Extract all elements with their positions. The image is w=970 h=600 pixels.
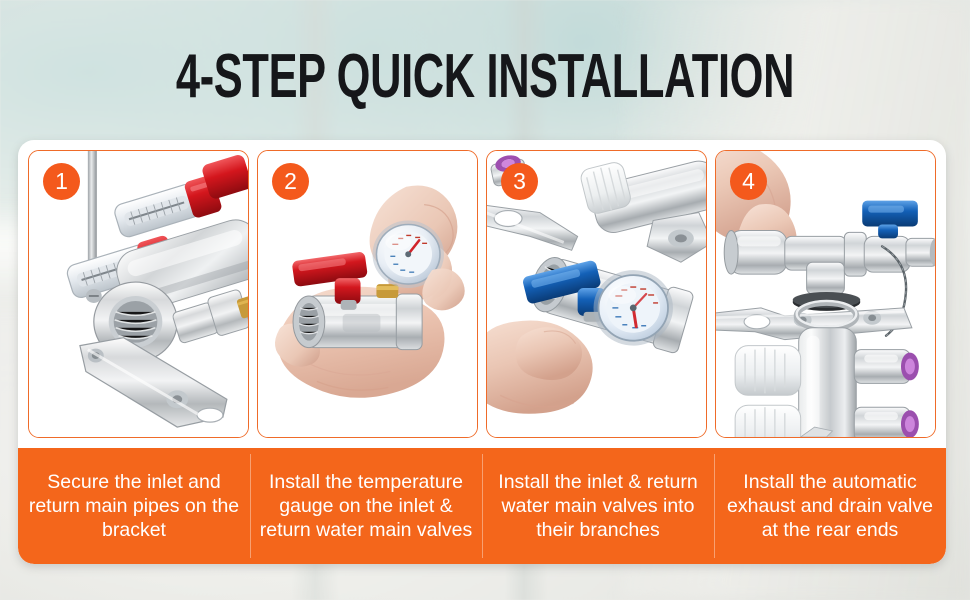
step-panel-4[interactable]: 4 [715,150,936,438]
step-caption-1: Secure the inlet and return main pipes o… [18,448,250,564]
step-badge-2: 2 [272,163,309,200]
caption-bar: Secure the inlet and return main pipes o… [18,448,946,564]
step-image-panels: 1 [28,150,936,438]
step-panel-1[interactable]: 1 [28,150,249,438]
step-badge-1: 1 [43,163,80,200]
step-caption-3: Install the inlet & return water main va… [482,448,714,564]
steps-card: 1 [18,140,946,564]
step-caption-4: Install the automatic exhaust and drain … [714,448,946,564]
step-panel-2[interactable]: 2 [257,150,478,438]
step-panel-3[interactable]: 3 [486,150,707,438]
page-title: 4-STEP QUICK INSTALLATION [146,46,825,108]
step-badge-3: 3 [501,163,538,200]
infographic-stage: 4-STEP QUICK INSTALLATION [0,0,970,600]
step-caption-2: Install the temperature gauge on the inl… [250,448,482,564]
step-badge-4: 4 [730,163,767,200]
